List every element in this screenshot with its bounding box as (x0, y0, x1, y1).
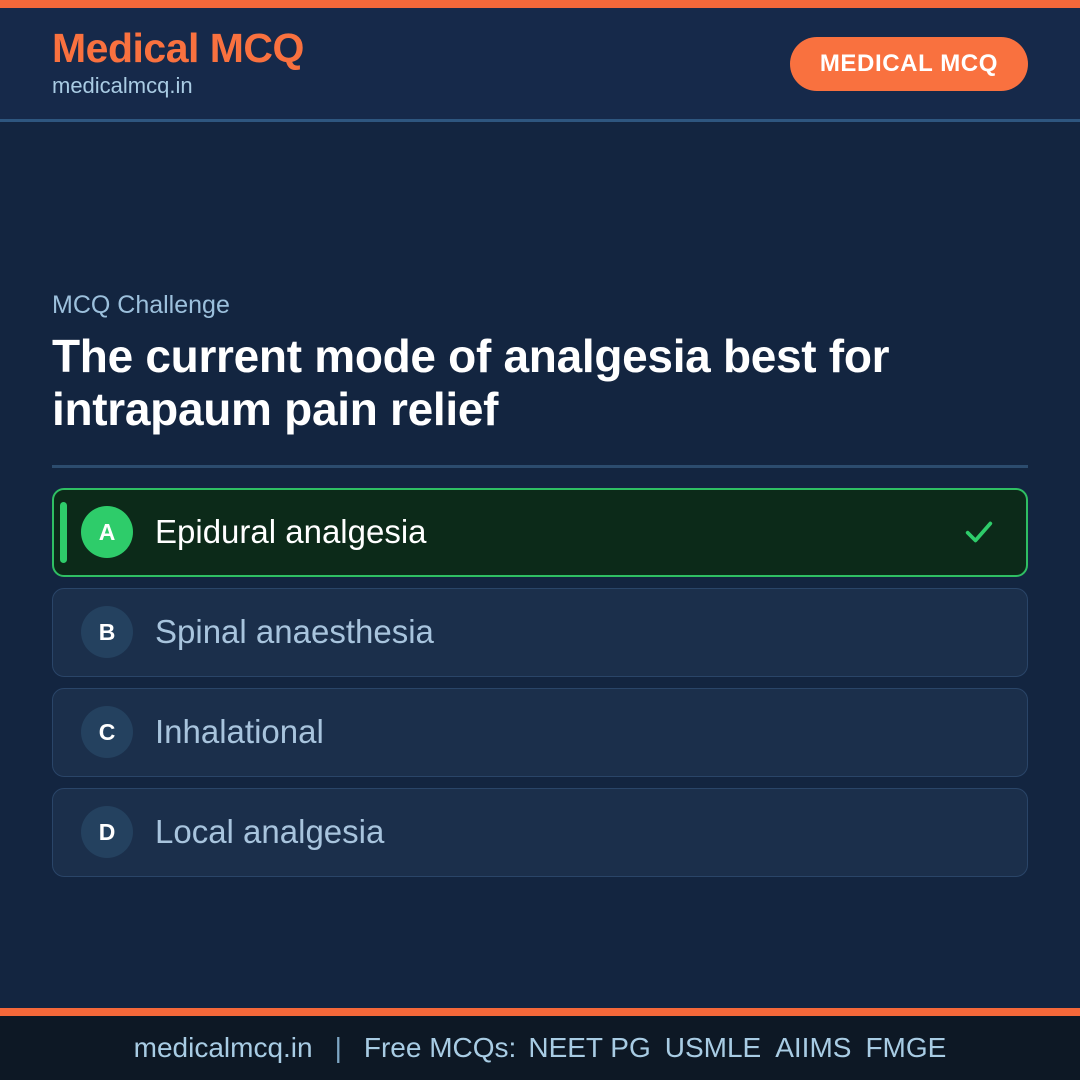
footer-separator: | (335, 1032, 342, 1064)
option-label: Epidural analgesia (155, 512, 962, 552)
question-block: MCQ Challenge The current mode of analge… (52, 122, 1028, 437)
eyebrow-label: MCQ Challenge (52, 290, 1028, 320)
header-badge: MEDICAL MCQ (790, 37, 1028, 91)
check-icon (962, 515, 996, 549)
question-divider (52, 465, 1028, 468)
brand-title: Medical MCQ (52, 26, 304, 70)
page-footer: medicalmcq.in | Free MCQs: NEET PG USMLE… (0, 1008, 1080, 1080)
page-header: Medical MCQ medicalmcq.in MEDICAL MCQ (0, 8, 1080, 122)
option-letter-badge: B (81, 606, 133, 658)
option-letter-badge: D (81, 806, 133, 858)
brand: Medical MCQ medicalmcq.in (52, 26, 304, 101)
footer-exam-usmle[interactable]: USMLE (665, 1032, 761, 1064)
footer-label: Free MCQs: (364, 1032, 516, 1064)
footer-exam-aiims[interactable]: AIIMS (775, 1032, 851, 1064)
footer-exam-fmge[interactable]: FMGE (865, 1032, 946, 1064)
footer-exam-neet-pg[interactable]: NEET PG (528, 1032, 650, 1064)
top-accent-bar (0, 0, 1080, 8)
brand-url: medicalmcq.in (52, 72, 304, 101)
main-content: MCQ Challenge The current mode of analge… (0, 122, 1080, 877)
option-letter-badge: A (81, 506, 133, 558)
footer-content: medicalmcq.in | Free MCQs: NEET PG USMLE… (134, 1032, 947, 1064)
footer-site-link[interactable]: medicalmcq.in (134, 1032, 313, 1064)
question-title: The current mode of analgesia best for i… (52, 330, 1002, 437)
option-label: Inhalational (155, 712, 997, 752)
option-label: Spinal anaesthesia (155, 612, 997, 652)
options-list: A Epidural analgesia B Spinal anaesthesi… (52, 488, 1028, 877)
correct-accent-bar (60, 502, 67, 563)
option-d[interactable]: D Local analgesia (52, 788, 1028, 877)
option-c[interactable]: C Inhalational (52, 688, 1028, 777)
option-a[interactable]: A Epidural analgesia (52, 488, 1028, 577)
option-label: Local analgesia (155, 812, 997, 852)
option-letter-badge: C (81, 706, 133, 758)
option-b[interactable]: B Spinal anaesthesia (52, 588, 1028, 677)
